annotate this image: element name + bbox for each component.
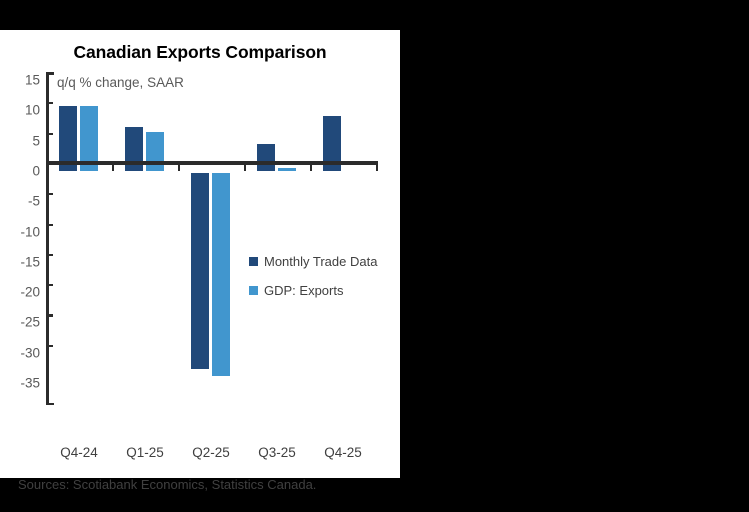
y-axis-line (46, 72, 49, 405)
x-tick-label: Q4-24 (60, 445, 98, 460)
bar-q3-25-series-0 (256, 143, 276, 172)
y-tick-label: 10 (6, 103, 40, 118)
y-tick-label: -25 (6, 315, 40, 330)
y-tick-label: 15 (6, 73, 40, 88)
y-tick-label: -15 (6, 254, 40, 269)
x-tick-label: Q4-25 (324, 445, 362, 460)
x-axis-tick (178, 165, 180, 171)
x-tick-label: Q1-25 (126, 445, 164, 460)
legend-item-monthly-trade-data: Monthly Trade Data (249, 254, 377, 269)
y-axis-tick (46, 102, 53, 104)
y-axis-tick (46, 284, 53, 286)
y-axis-tick (46, 193, 53, 195)
y-axis-tick (46, 345, 53, 347)
legend-item-gdp-exports: GDP: Exports (249, 283, 377, 298)
legend-swatch-icon (249, 257, 258, 266)
y-axis-top-cap (46, 72, 54, 75)
y-tick-label: 0 (6, 163, 40, 178)
chart-panel: Canadian Exports Comparison q/q % change… (0, 30, 400, 478)
legend-swatch-icon (249, 286, 258, 295)
bar-q2-25-series-1 (211, 172, 231, 377)
legend-label: Monthly Trade Data (264, 254, 377, 269)
x-axis-tick (310, 165, 312, 171)
y-tick-label: -30 (6, 345, 40, 360)
y-axis-labels: 15 10 5 0 -5 -10 -15 -20 -25 -30 -35 (0, 50, 40, 405)
legend-label: GDP: Exports (264, 283, 343, 298)
screenshot-root: Canadian Exports Comparison q/q % change… (0, 0, 749, 482)
y-tick-label: -10 (6, 224, 40, 239)
y-axis-tick (46, 314, 53, 316)
x-tick-label: Q2-25 (192, 445, 230, 460)
x-axis-labels: Q4-24 Q1-25 Q2-25 Q3-25 Q4-25 (46, 445, 386, 469)
bar-q2-25-series-0 (190, 172, 210, 370)
bar-q1-25-series-1 (145, 131, 165, 172)
bottom-black-strip (0, 508, 400, 512)
source-note: Sources: Scotiabank Economics, Statistic… (18, 477, 316, 492)
y-axis-tick (46, 224, 53, 226)
zero-axis-line (46, 161, 378, 165)
y-axis-tick (46, 254, 53, 256)
plot-area (46, 50, 376, 405)
chart-legend: Monthly Trade Data GDP: Exports (249, 254, 377, 312)
y-tick-label: -35 (6, 376, 40, 391)
x-tick-label: Q3-25 (258, 445, 296, 460)
x-axis-tick (112, 165, 114, 171)
x-axis-tick (376, 165, 378, 171)
bar-q1-25-series-0 (124, 126, 144, 172)
x-axis-tick (244, 165, 246, 171)
y-axis-bottom-cap (46, 403, 54, 406)
y-tick-label: -5 (6, 194, 40, 209)
y-tick-label: 5 (6, 133, 40, 148)
y-axis-tick (46, 133, 53, 135)
y-tick-label: -20 (6, 285, 40, 300)
bar-q3-25-series-1 (277, 167, 297, 172)
